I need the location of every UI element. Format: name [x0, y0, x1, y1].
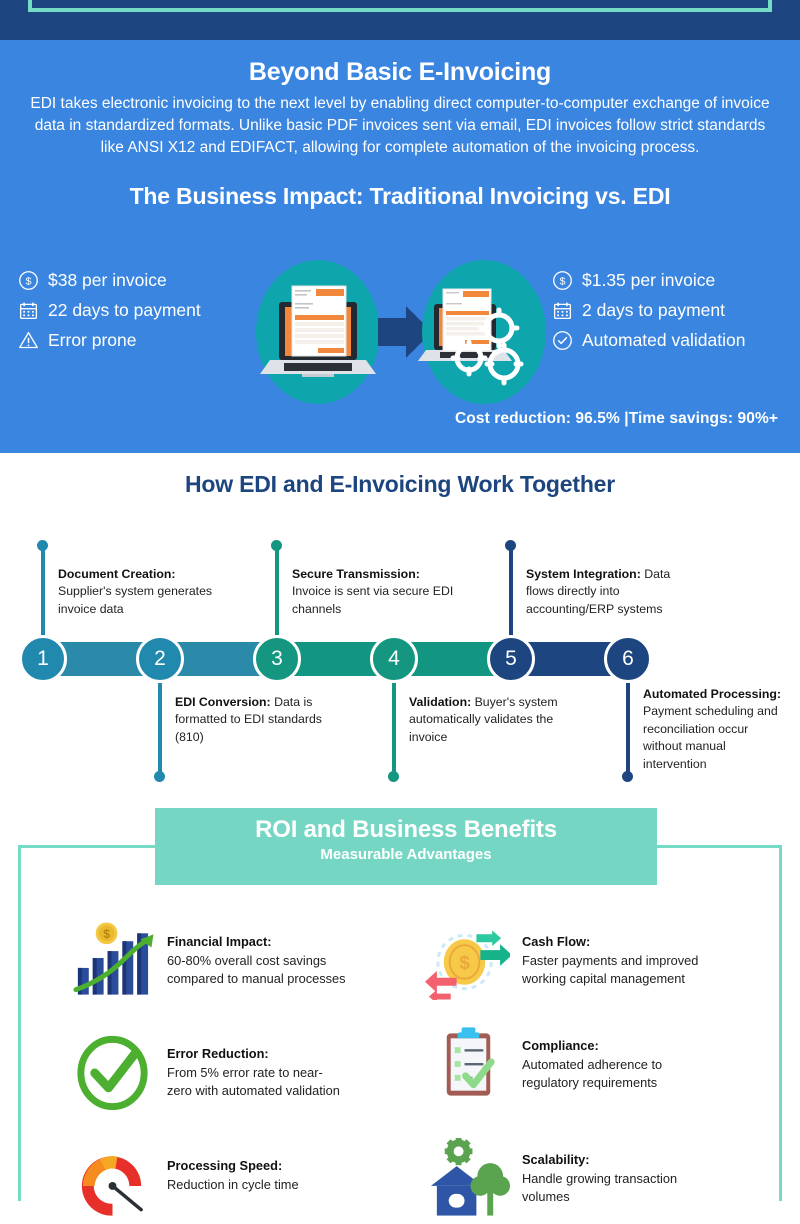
benefit-item: Compliance: Automated adherence to regul… [425, 1024, 702, 1104]
timeline-step-number: 1 [37, 647, 49, 671]
timeline-label-1: Document Creation: Supplier's system gen… [58, 566, 223, 618]
timeline-step-number: 5 [505, 647, 517, 671]
benefit-body: 60-80% overall cost savings compared to … [167, 953, 346, 987]
timeline-dot-6 [622, 771, 633, 782]
timeline-label-body: Supplier's system generates invoice data [58, 584, 212, 615]
benefit-heading: Processing Speed: [167, 1158, 282, 1173]
comparison-block: $ $38 per invoice 22 days to payment Err… [0, 265, 800, 405]
house-gear-tree-icon [425, 1138, 510, 1218]
traditional-invoicing-stats: $ $38 per invoice 22 days to payment Err… [18, 265, 268, 355]
timeline-stem-3 [275, 545, 279, 640]
business-impact-title: The Business Impact: Traditional Invoici… [0, 159, 800, 210]
stat-row: $ $38 per invoice [18, 265, 268, 295]
stat-text: Error prone [48, 330, 137, 351]
benefit-text: Cash Flow: Faster payments and improved … [522, 920, 702, 989]
cut-off-callout-box: standardized formats that any system can… [28, 0, 772, 12]
timeline-dot-4 [388, 771, 399, 782]
stat-row: $ $1.35 per invoice [552, 265, 800, 295]
timeline-label-heading: Secure Transmission: [292, 567, 420, 581]
benefit-heading: Scalability: [522, 1152, 590, 1167]
timeline-dot-2 [154, 771, 165, 782]
cash-flow-coin-icon: $ [425, 920, 510, 1000]
benefit-body: Faster payments and improved working cap… [522, 953, 698, 987]
cut-off-callout-text: standardized formats that any system can… [32, 0, 768, 12]
timeline-stem-2 [158, 678, 162, 776]
benefit-text: Scalability: Handle growing transaction … [522, 1138, 702, 1207]
benefit-heading: Error Reduction: [167, 1046, 269, 1061]
timeline-stem-6 [626, 678, 630, 776]
svg-text:$: $ [26, 275, 32, 287]
warning-triangle-icon [18, 330, 39, 351]
benefit-text: Processing Speed: Reduction in cycle tim… [167, 1144, 347, 1194]
timeline-step-3[interactable]: 3 [253, 635, 301, 683]
svg-text:$: $ [459, 952, 470, 973]
timeline-stem-4 [392, 678, 396, 776]
invoice-transformation-illustration [256, 260, 546, 405]
process-timeline: 1 Document Creation: Supplier's system g… [0, 453, 800, 798]
timeline-step-6[interactable]: 6 [604, 635, 652, 683]
benefit-heading: Financial Impact: [167, 934, 272, 949]
timeline-label-heading: Automated Processing: [643, 687, 781, 701]
dollar-circle-icon: $ [18, 270, 39, 291]
timeline-label-4: Validation: Buyer's system automatically… [409, 694, 574, 746]
timeline-label-2: EDI Conversion: Data is formatted to EDI… [175, 694, 340, 746]
timeline-label-heading: System Integration: [526, 567, 641, 581]
benefit-text: Financial Impact: 60-80% overall cost sa… [167, 920, 347, 989]
timeline-step-number: 3 [271, 647, 283, 671]
savings-summary: Cost reduction: 96.5% |Time savings: 90%… [455, 410, 778, 428]
stat-row: 22 days to payment [18, 295, 268, 325]
timeline-step-2[interactable]: 2 [136, 635, 184, 683]
benefit-body: From 5% error rate to near-zero with aut… [167, 1065, 340, 1099]
stat-text: 22 days to payment [48, 300, 201, 321]
timeline-dot-3 [271, 540, 282, 551]
benefit-text: Compliance: Automated adherence to regul… [522, 1024, 702, 1093]
timeline-dot-5 [505, 540, 516, 551]
timeline-stem-5 [509, 545, 513, 640]
stat-row: Automated validation [552, 325, 800, 355]
stat-text: $1.35 per invoice [582, 270, 715, 291]
benefit-item: Scalability: Handle growing transaction … [425, 1138, 702, 1218]
benefit-item: $ Cash Flow: Faster payments and improve… [425, 920, 702, 1000]
edi-invoicing-stats: $ $1.35 per invoice 2 days to payment Au… [552, 265, 800, 355]
benefit-text: Error Reduction: From 5% error rate to n… [167, 1032, 347, 1101]
benefit-item: Error Reduction: From 5% error rate to n… [70, 1032, 347, 1112]
timeline-step-5[interactable]: 5 [487, 635, 535, 683]
timeline-label-3: Secure Transmission: Invoice is sent via… [292, 566, 457, 618]
timeline-step-4[interactable]: 4 [370, 635, 418, 683]
benefit-body: Handle growing transaction volumes [522, 1171, 677, 1205]
timeline-label-body: Invoice is sent via secure EDI channels [292, 584, 453, 615]
benefit-heading: Compliance: [522, 1038, 599, 1053]
timeline-label-6: Automated Processing: Payment scheduling… [643, 686, 788, 773]
timeline-step-number: 2 [154, 647, 166, 671]
roi-title: ROI and Business Benefits [155, 808, 657, 844]
timeline-label-body: Payment scheduling and reconciliation oc… [643, 704, 778, 770]
growth-bar-chart-icon: $ [70, 920, 155, 1000]
stat-text: $38 per invoice [48, 270, 167, 291]
timeline-label-heading: EDI Conversion: [175, 695, 271, 709]
calendar-icon [552, 300, 573, 321]
calendar-icon [18, 300, 39, 321]
timeline-step-number: 4 [388, 647, 400, 671]
benefit-heading: Cash Flow: [522, 934, 590, 949]
benefit-body: Automated adherence to regulatory requir… [522, 1057, 662, 1091]
hero-title: Beyond Basic E-Invoicing [0, 40, 800, 87]
svg-text:$: $ [560, 275, 566, 287]
timeline-stem-1 [41, 545, 45, 640]
dollar-circle-icon: $ [552, 270, 573, 291]
speedometer-icon [70, 1144, 155, 1224]
process-section: How EDI and E-Invoicing Work Together 1 … [0, 453, 800, 798]
benefit-item: Processing Speed: Reduction in cycle tim… [70, 1144, 347, 1224]
check-circle-icon [552, 330, 573, 351]
timeline-step-number: 6 [622, 647, 634, 671]
stat-row: 2 days to payment [552, 295, 800, 325]
roi-subtitle: Measurable Advantages [155, 844, 657, 863]
top-navy-strip: standardized formats that any system can… [0, 0, 800, 40]
stat-row: Error prone [18, 325, 268, 355]
timeline-label-heading: Document Creation: [58, 567, 176, 581]
timeline-label-heading: Validation: [409, 695, 471, 709]
stat-text: Automated validation [582, 330, 745, 351]
green-check-circle-icon [70, 1032, 155, 1112]
stat-text: 2 days to payment [582, 300, 725, 321]
timeline-step-1[interactable]: 1 [19, 635, 67, 683]
svg-text:$: $ [103, 927, 110, 941]
hero-body-paragraph: EDI takes electronic invoicing to the ne… [0, 87, 800, 159]
benefit-item: $ Financial Impact: 60-80% overall cost … [70, 920, 347, 1000]
clipboard-checklist-icon [425, 1024, 510, 1104]
timeline-label-5: System Integration: Data flows directly … [526, 566, 691, 618]
benefit-body: Reduction in cycle time [167, 1177, 299, 1192]
timeline-dot-1 [37, 540, 48, 551]
hero-section: Beyond Basic E-Invoicing EDI takes elect… [0, 40, 800, 453]
roi-header-band: ROI and Business Benefits Measurable Adv… [155, 808, 657, 885]
roi-section: ROI and Business Benefits Measurable Adv… [0, 798, 800, 1200]
